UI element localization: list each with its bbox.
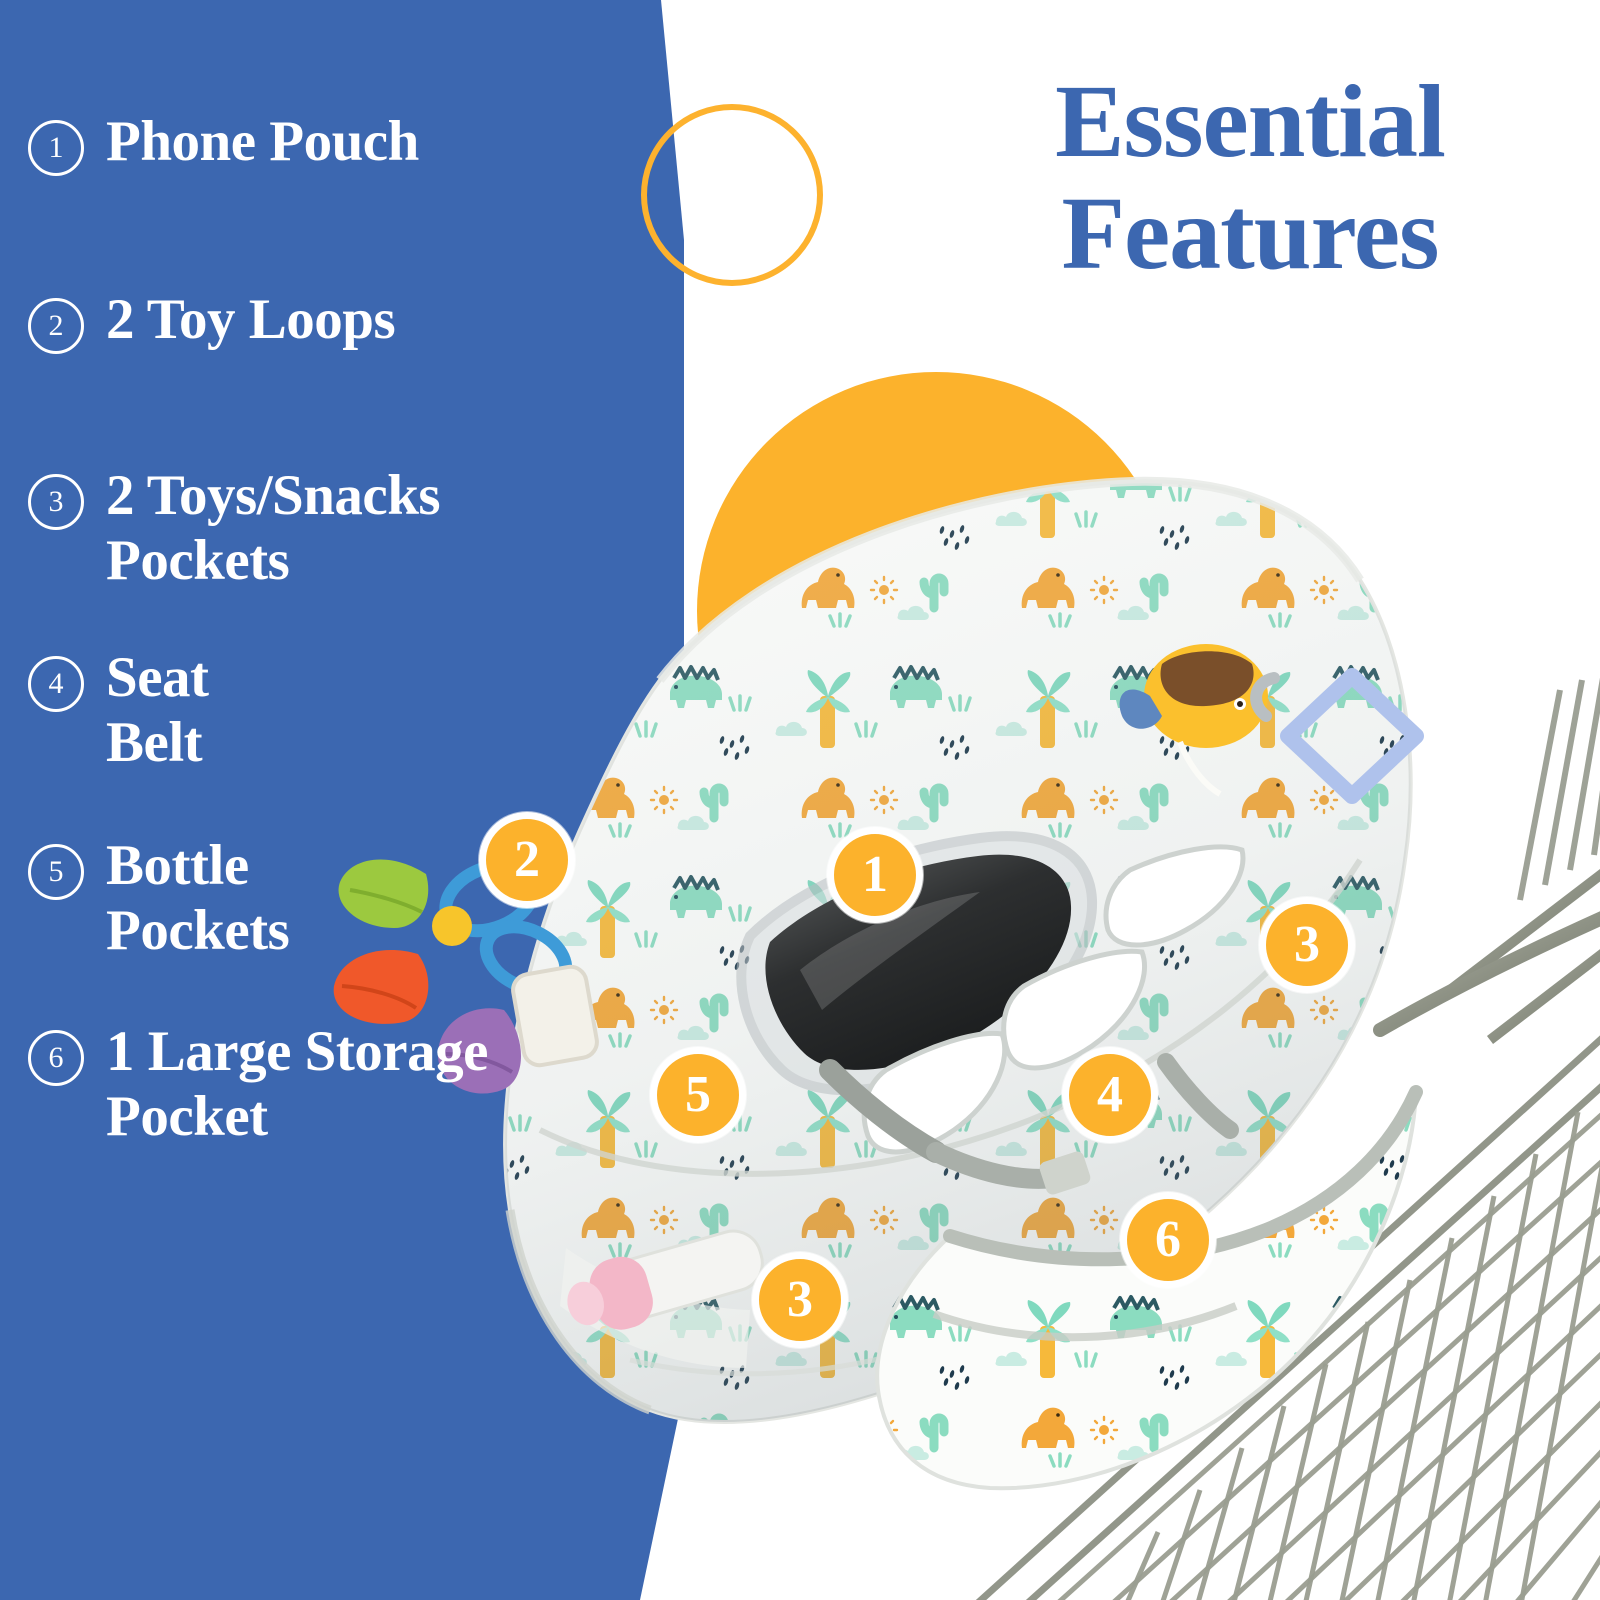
callout-badge-3-bottom: 3 [752, 1252, 848, 1348]
callout-badge-1-number: 1 [862, 849, 888, 901]
feature-item-2: 2 2 Toy Loops [28, 288, 648, 354]
feature-item-6: 6 1 Large Storage Pocket [28, 1020, 648, 1150]
page-title-line1: Essential [1055, 64, 1445, 179]
callout-badge-1: 1 [827, 827, 923, 923]
callout-badge-6: 6 [1120, 1192, 1216, 1288]
feature-number-6: 6 [28, 1030, 84, 1086]
feature-label-4: Seat Belt [106, 646, 316, 776]
infographic-canvas: 1 Phone Pouch 2 2 Toy Loops 3 2 Toys/Sna… [0, 0, 1600, 1600]
callout-badge-5: 5 [650, 1047, 746, 1143]
feature-label-3: 2 Toys/Snacks Pockets [106, 464, 576, 594]
feature-item-1: 1 Phone Pouch [28, 110, 648, 176]
page-title-line2: Features [930, 178, 1570, 290]
feature-item-3: 3 2 Toys/Snacks Pockets [28, 464, 648, 594]
callout-badge-2: 2 [479, 812, 575, 908]
callout-badge-4: 4 [1062, 1047, 1158, 1143]
callout-badge-4-number: 4 [1097, 1069, 1123, 1121]
feature-label-6: 1 Large Storage Pocket [106, 1020, 596, 1150]
feature-number-2: 2 [28, 298, 84, 354]
feature-number-3: 3 [28, 474, 84, 530]
callout-badge-2-number: 2 [514, 834, 540, 886]
feature-label-1: Phone Pouch [106, 110, 419, 175]
feature-number-1: 1 [28, 120, 84, 176]
orange-ring-decoration [641, 104, 823, 286]
page-title: Essential Features [930, 66, 1570, 291]
feature-number-4: 4 [28, 656, 84, 712]
callout-badge-3-bottom-number: 3 [787, 1274, 813, 1326]
feature-label-2: 2 Toy Loops [106, 288, 395, 353]
callout-badge-3-right-number: 3 [1294, 919, 1320, 971]
callout-badge-5-number: 5 [685, 1069, 711, 1121]
feature-item-4: 4 Seat Belt [28, 646, 648, 776]
feature-number-5: 5 [28, 844, 84, 900]
feature-list: 1 Phone Pouch 2 2 Toy Loops 3 2 Toys/Sna… [28, 110, 648, 1194]
feature-label-5: Bottle Pockets [106, 834, 366, 964]
callout-badge-3-right: 3 [1259, 897, 1355, 993]
callout-badge-6-number: 6 [1155, 1214, 1181, 1266]
